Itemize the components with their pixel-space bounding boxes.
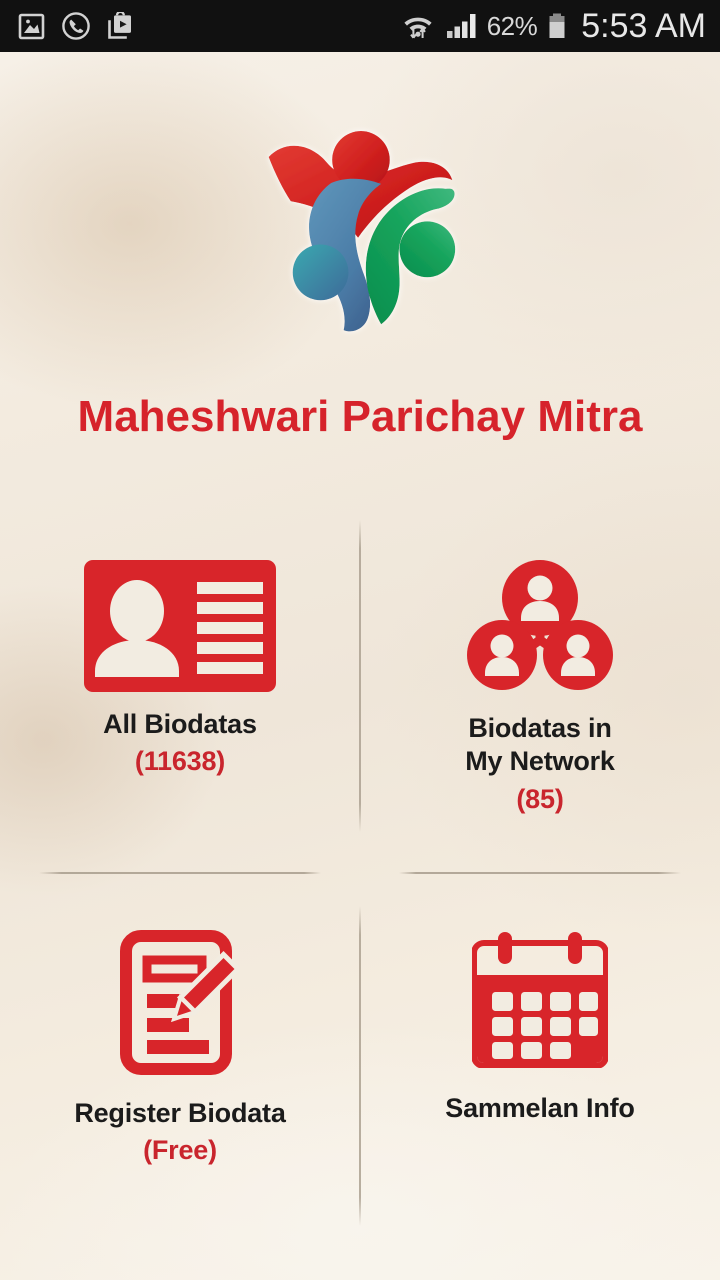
menu-item-label-line1: Biodatas in [468,713,611,743]
menu-item-label: Biodatas in My Network [465,712,615,779]
status-bar-left-icons [18,11,134,41]
menu-item-label: All Biodatas [103,708,257,741]
horizontal-divider-right [399,872,681,874]
app-logo [0,104,720,360]
battery-icon [547,11,567,41]
calendar-icon [472,930,608,1068]
menu-item-sammelan-info[interactable]: Sammelan Info [360,930,720,1130]
id-card-icon [84,560,276,692]
play-store-update-icon [107,12,134,41]
people-network-icon [467,560,613,690]
wifi-icon [401,11,435,41]
menu-item-count: (Free) [143,1135,217,1166]
document-pencil-icon [120,930,240,1075]
page-title: Maheshwari Parichay Mitra [0,392,720,442]
menu-item-label-line2: My Network [465,746,615,776]
clock-label: 5:53 AM [581,7,706,46]
menu-item-count: (85) [516,784,563,815]
status-bar-right-icons: 62% 5:53 AM [401,7,706,46]
status-bar: 62% 5:53 AM [0,0,720,52]
menu-item-network-biodatas[interactable]: Biodatas in My Network (85) [360,560,720,815]
menu-item-count: (11638) [135,746,225,777]
three-people-pinwheel-logo-icon [235,107,485,357]
menu-item-register-biodata[interactable]: Register Biodata (Free) [0,930,360,1166]
horizontal-divider-left [39,872,321,874]
battery-percent-label: 62% [487,11,538,42]
phone-circle-icon [61,11,91,41]
menu-item-label: Register Biodata [74,1097,285,1130]
cellular-signal-icon [445,11,477,41]
gallery-image-icon [18,12,45,41]
menu-item-all-biodatas[interactable]: All Biodatas (11638) [0,560,360,777]
menu-item-label: Sammelan Info [445,1092,634,1125]
